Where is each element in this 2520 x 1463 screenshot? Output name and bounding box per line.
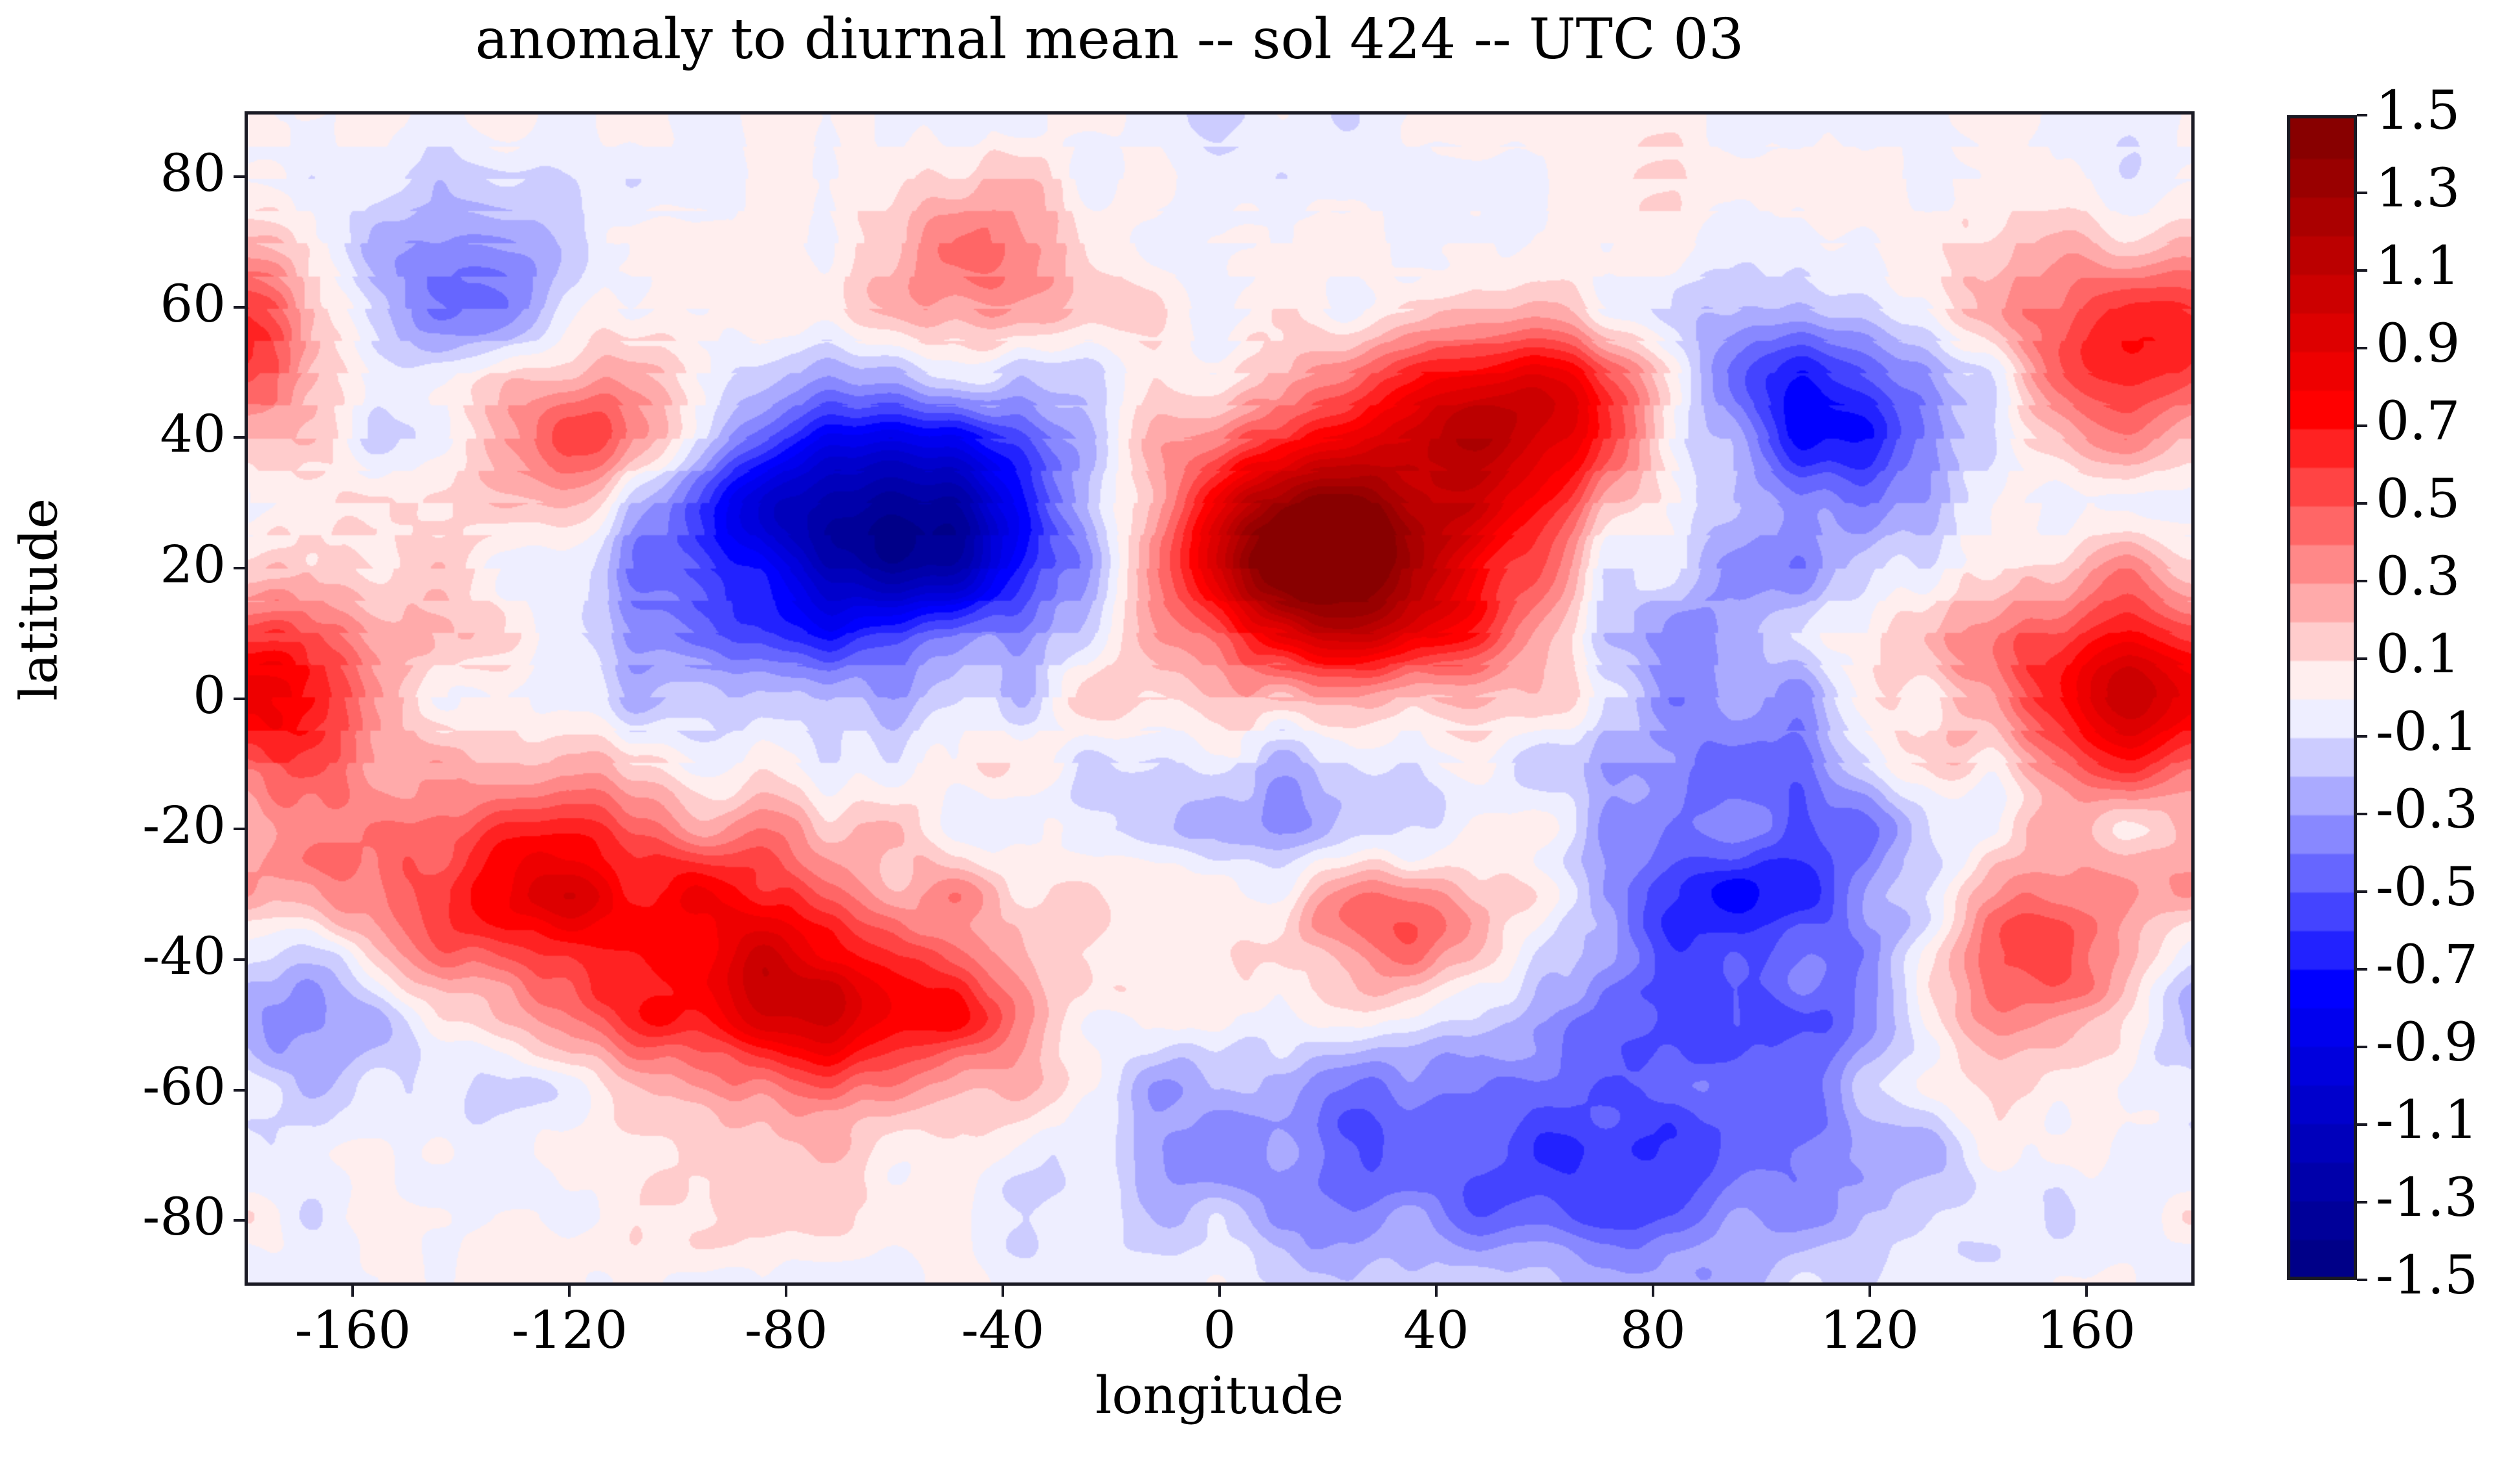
x-tick-mark — [1218, 1286, 1221, 1297]
colorbar-gradient — [2287, 115, 2357, 1280]
y-tick-mark — [234, 175, 245, 178]
y-tick-mark — [234, 1219, 245, 1222]
x-tick-mark — [785, 1286, 787, 1297]
y-tick-mark — [234, 698, 245, 700]
chart-title: anomaly to diurnal mean -- sol 424 -- UT… — [0, 12, 2219, 67]
y-tick-label: -20 — [32, 795, 226, 855]
y-tick-mark — [234, 306, 245, 309]
colorbar-tick-label: 0.3 — [2376, 546, 2460, 608]
colorbar-tick-mark — [2357, 890, 2367, 893]
colorbar-tick-mark — [2357, 968, 2367, 971]
colorbar-tick-label: -0.1 — [2376, 701, 2478, 763]
y-tick-mark — [234, 436, 245, 439]
y-axis-label: latitude — [9, 451, 69, 749]
colorbar-tick-label: 1.3 — [2376, 158, 2460, 219]
y-tick-label: -60 — [32, 1057, 226, 1117]
x-tick-mark — [568, 1286, 571, 1297]
y-tick-label: -80 — [32, 1187, 226, 1247]
colorbar — [2287, 115, 2357, 1280]
y-tick-mark — [234, 1089, 245, 1092]
colorbar-tick-label: 0.5 — [2376, 468, 2460, 530]
colorbar-tick-label: 0.1 — [2376, 624, 2460, 685]
colorbar-tick-mark — [2357, 1123, 2367, 1126]
colorbar-tick-label: 1.5 — [2376, 80, 2460, 142]
x-tick-label: 120 — [1760, 1300, 1980, 1360]
x-tick-label: 160 — [1977, 1300, 2197, 1360]
x-tick-label: -40 — [893, 1300, 1113, 1360]
colorbar-tick-label: -0.7 — [2376, 934, 2478, 996]
y-tick-mark — [234, 828, 245, 830]
x-tick-label: -120 — [459, 1300, 679, 1360]
colorbar-tick-label: 0.7 — [2376, 391, 2460, 452]
colorbar-tick-mark — [2357, 347, 2367, 349]
colorbar-tick-label: -0.9 — [2376, 1012, 2478, 1073]
colorbar-tick-label: -1.1 — [2376, 1090, 2478, 1151]
colorbar-tick-mark — [2357, 114, 2367, 116]
x-tick-label: 0 — [1110, 1300, 1330, 1360]
colorbar-tick-label: 1.1 — [2376, 236, 2460, 297]
x-tick-label: -160 — [243, 1300, 463, 1360]
colorbar-tick-mark — [2357, 580, 2367, 582]
colorbar-tick-mark — [2357, 1046, 2367, 1048]
x-tick-mark — [1868, 1286, 1871, 1297]
y-tick-label: -40 — [32, 926, 226, 986]
x-tick-label: 40 — [1326, 1300, 1546, 1360]
x-tick-mark — [1435, 1286, 1438, 1297]
figure-canvas: anomaly to diurnal mean -- sol 424 -- UT… — [0, 0, 2520, 1463]
colorbar-tick-label: -0.3 — [2376, 779, 2478, 841]
colorbar-tick-mark — [2357, 502, 2367, 505]
x-tick-mark — [1652, 1286, 1654, 1297]
colorbar-tick-mark — [2357, 192, 2367, 194]
contour-plot-axes — [245, 111, 2195, 1286]
y-tick-mark — [234, 958, 245, 961]
contour-field — [248, 115, 2191, 1282]
x-tick-mark — [2085, 1286, 2088, 1297]
x-tick-label: 80 — [1543, 1300, 1763, 1360]
y-tick-label: 80 — [32, 143, 226, 203]
colorbar-tick-mark — [2357, 1201, 2367, 1204]
colorbar-tick-mark — [2357, 735, 2367, 738]
colorbar-tick-label: -1.5 — [2376, 1245, 2478, 1306]
colorbar-tick-mark — [2357, 424, 2367, 427]
y-tick-mark — [234, 567, 245, 569]
colorbar-tick-label: -0.5 — [2376, 857, 2478, 918]
colorbar-tick-mark — [2357, 269, 2367, 272]
colorbar-tick-mark — [2357, 657, 2367, 660]
colorbar-tick-label: 0.9 — [2376, 313, 2460, 375]
x-tick-mark — [1002, 1286, 1004, 1297]
x-tick-label: -80 — [676, 1300, 896, 1360]
colorbar-tick-label: -1.3 — [2376, 1167, 2478, 1229]
colorbar-tick-mark — [2357, 813, 2367, 815]
x-axis-label: longitude — [245, 1365, 2195, 1425]
y-tick-label: 60 — [32, 274, 226, 334]
colorbar-tick-mark — [2357, 1279, 2367, 1281]
x-tick-mark — [351, 1286, 354, 1297]
